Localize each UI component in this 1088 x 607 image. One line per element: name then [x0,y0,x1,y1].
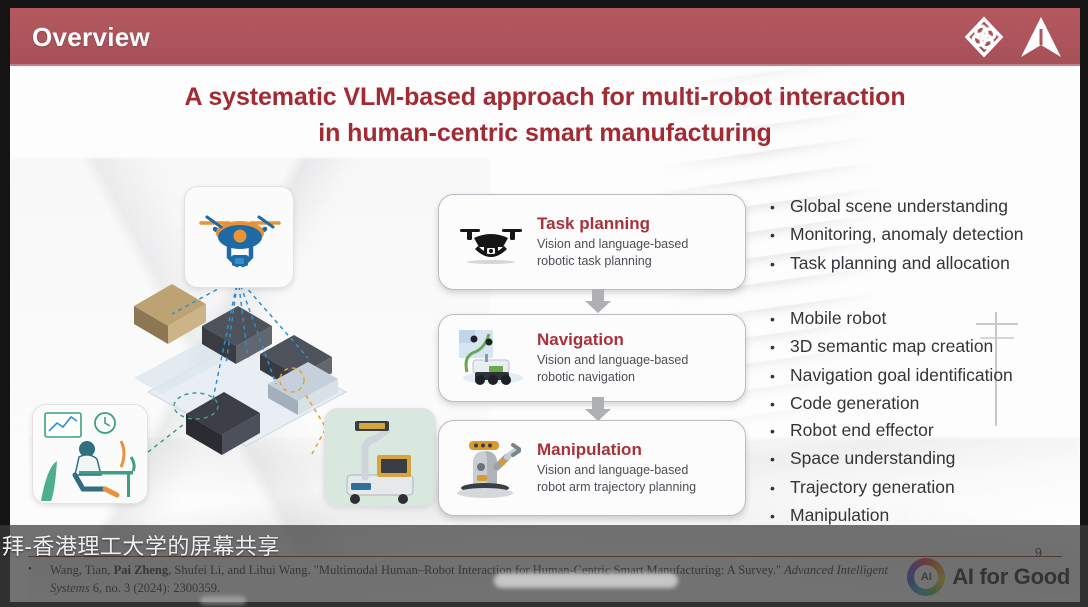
stage-desc-line-1: Vision and language-based [537,236,688,253]
list-item: • Global scene understanding [770,192,1080,220]
list-item: • Mobile robot [770,304,1080,332]
bullet-group-manipulation: • Robot end effector • Space understandi… [770,416,1080,529]
main-title-line-2: in human-centric smart manufacturing [10,116,1080,152]
slide-header: Overview [10,8,1080,66]
list-item: • Navigation goal identification [770,361,1080,389]
bullet-group-task-planning: • Global scene understanding • Monitorin… [770,192,1080,277]
stage-title: Task planning [537,214,688,234]
screen-share-label: 拜-香港理工大学的屏幕共享 [2,529,280,561]
stage-card-task-planning[interactable]: Task planning Vision and language-based … [438,194,746,290]
stage-text-block: Navigation Vision and language-based rob… [533,330,688,386]
bullet-text: Monitoring, anomaly detection [790,220,1023,248]
operator-desk-thumb-card [32,404,148,504]
stage-desc-line-2: robotic task planning [537,253,688,270]
mobile-robot-icon [449,323,533,393]
list-item: • Monitoring, anomaly detection [770,220,1080,248]
list-item: • 3D semantic map creation [770,332,1080,360]
flow-arrow-down-icon [585,289,611,313]
stage-desc-line-1: Vision and language-based [537,462,696,479]
bullet-dot-icon: • [770,253,790,276]
stage-desc-line-1: Vision and language-based [537,352,688,369]
bullet-text: Mobile robot [790,304,886,332]
screen-share-overlay: 拜-香港理工大学的屏幕共享 [0,525,1088,607]
operator-at-desk-icon [33,405,148,504]
page-title: Overview [32,22,150,53]
stage-desc-line-2: robotic navigation [537,369,688,386]
bullet-group-navigation: • Mobile robot • 3D semantic map creatio… [770,304,1080,417]
drone-icon [185,187,294,288]
stage-title: Manipulation [537,440,696,460]
bullet-text: Navigation goal identification [790,361,1013,389]
bullet-dot-icon: • [770,308,790,331]
bullet-dot-icon: • [770,365,790,388]
stage-title: Navigation [537,330,688,350]
stage-card-navigation[interactable]: Navigation Vision and language-based rob… [438,314,746,402]
bullet-text: Global scene understanding [790,192,1008,220]
flow-arrow-down-icon [585,397,611,421]
redaction-blur-2 [200,596,246,605]
stage-text-block: Manipulation Vision and language-based r… [533,440,696,496]
bullet-dot-icon: • [770,393,790,416]
list-item: • Code generation [770,389,1080,417]
mobile-manipulator-icon [325,409,436,506]
bullet-text: Task planning and allocation [790,249,1010,277]
stage-text-block: Task planning Vision and language-based … [533,214,688,270]
redaction-blur-1 [494,573,678,588]
bullet-dot-icon: • [770,196,790,219]
bullet-dot-icon: • [770,448,790,471]
bullet-dot-icon: • [770,336,790,359]
bullet-text: Code generation [790,389,919,417]
list-item: • Robot end effector [770,416,1080,444]
stage-desc-line-2: robot arm trajectory planning [537,479,696,496]
drone-icon [449,207,533,277]
bullet-dot-icon: • [770,224,790,247]
header-logo-group [958,12,1064,62]
robot-arm-icon [449,433,533,503]
polyu-knot-icon [958,12,1010,62]
list-item: • Trajectory generation [770,473,1080,501]
bullet-dot-icon: • [770,477,790,500]
list-item: • Task planning and allocation [770,249,1080,277]
bullet-dot-icon: • [770,420,790,443]
factory-scene-illustration [16,178,436,530]
bullet-text: Robot end effector [790,416,934,444]
bullet-text: 3D semantic map creation [790,332,993,360]
presentation-slide: Overview A systemat [10,8,1080,602]
bullet-text: Trajectory generation [790,473,955,501]
screen-capture: Overview A systemat [0,0,1088,607]
bullet-text: Space understanding [790,444,955,472]
drone-thumb-card [184,186,294,288]
stage-card-manipulation[interactable]: Manipulation Vision and language-based r… [438,420,746,516]
main-title-line-1: A systematic VLM-based approach for mult… [184,83,905,111]
slide-main-title: A systematic VLM-based approach for mult… [10,80,1080,151]
arrow-logo-icon [1018,12,1064,62]
list-item: • Space understanding [770,444,1080,472]
robot-arm-amr-thumb-card [324,408,436,506]
